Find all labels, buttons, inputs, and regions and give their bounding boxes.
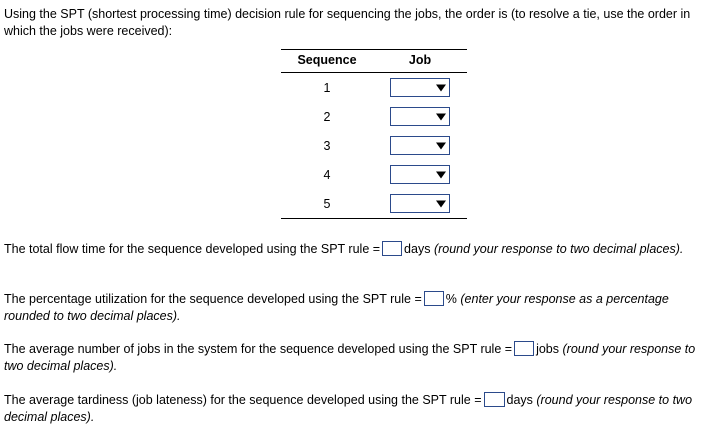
- statement-1-unit: days: [404, 242, 430, 256]
- average-jobs-input[interactable]: [514, 341, 534, 356]
- statement-1-lead: The total flow time for the sequence dev…: [4, 242, 380, 256]
- table-row: 5: [281, 189, 467, 219]
- sequence-number-4: 4: [281, 160, 373, 189]
- question-intro-text: Using the SPT (shortest processing time)…: [4, 6, 704, 40]
- statement-1-note: (round your response to two decimal plac…: [434, 242, 683, 256]
- average-tardiness-input[interactable]: [484, 392, 505, 407]
- chevron-down-icon: [436, 200, 446, 207]
- table-row: 2: [281, 102, 467, 131]
- question-page: Using the SPT (shortest processing time)…: [0, 0, 708, 433]
- statement-4-unit: days: [507, 393, 533, 407]
- job-cell-4: [373, 160, 467, 189]
- statement-total-flow-time: The total flow time for the sequence dev…: [4, 241, 704, 258]
- table-header-row: Sequence Job: [281, 50, 467, 73]
- sequence-number-3: 3: [281, 131, 373, 160]
- table-body: 1 2 3: [281, 73, 467, 219]
- job-cell-1: [373, 73, 467, 103]
- statement-average-tardiness: The average tardiness (job lateness) for…: [4, 392, 704, 426]
- table-row: 3: [281, 131, 467, 160]
- chevron-down-icon: [436, 171, 446, 178]
- statement-2-unit: %: [446, 292, 457, 306]
- job-dropdown-3[interactable]: [390, 136, 450, 155]
- job-dropdown-5[interactable]: [390, 194, 450, 213]
- statement-2-lead: The percentage utilization for the seque…: [4, 292, 422, 306]
- table-row: 4: [281, 160, 467, 189]
- job-cell-3: [373, 131, 467, 160]
- chevron-down-icon: [436, 142, 446, 149]
- job-dropdown-2[interactable]: [390, 107, 450, 126]
- chevron-down-icon: [436, 113, 446, 120]
- total-flow-time-input[interactable]: [382, 241, 402, 256]
- sequence-number-5: 5: [281, 189, 373, 219]
- statement-3-lead: The average number of jobs in the system…: [4, 342, 512, 356]
- job-cell-5: [373, 189, 467, 219]
- statement-4-lead: The average tardiness (job lateness) for…: [4, 393, 482, 407]
- percentage-utilization-input[interactable]: [424, 291, 444, 306]
- chevron-down-icon: [436, 84, 446, 91]
- table-row: 1: [281, 73, 467, 103]
- job-dropdown-1[interactable]: [390, 78, 450, 97]
- job-dropdown-4[interactable]: [390, 165, 450, 184]
- statement-3-unit: jobs: [536, 342, 559, 356]
- column-header-sequence: Sequence: [281, 50, 373, 73]
- sequence-number-2: 2: [281, 102, 373, 131]
- column-header-job: Job: [373, 50, 467, 73]
- statement-percentage-utilization: The percentage utilization for the seque…: [4, 291, 704, 325]
- sequence-job-table: Sequence Job 1 2: [281, 49, 467, 219]
- sequence-number-1: 1: [281, 73, 373, 103]
- statement-average-jobs-in-system: The average number of jobs in the system…: [4, 341, 704, 375]
- job-cell-2: [373, 102, 467, 131]
- table-header: Sequence Job: [281, 50, 467, 73]
